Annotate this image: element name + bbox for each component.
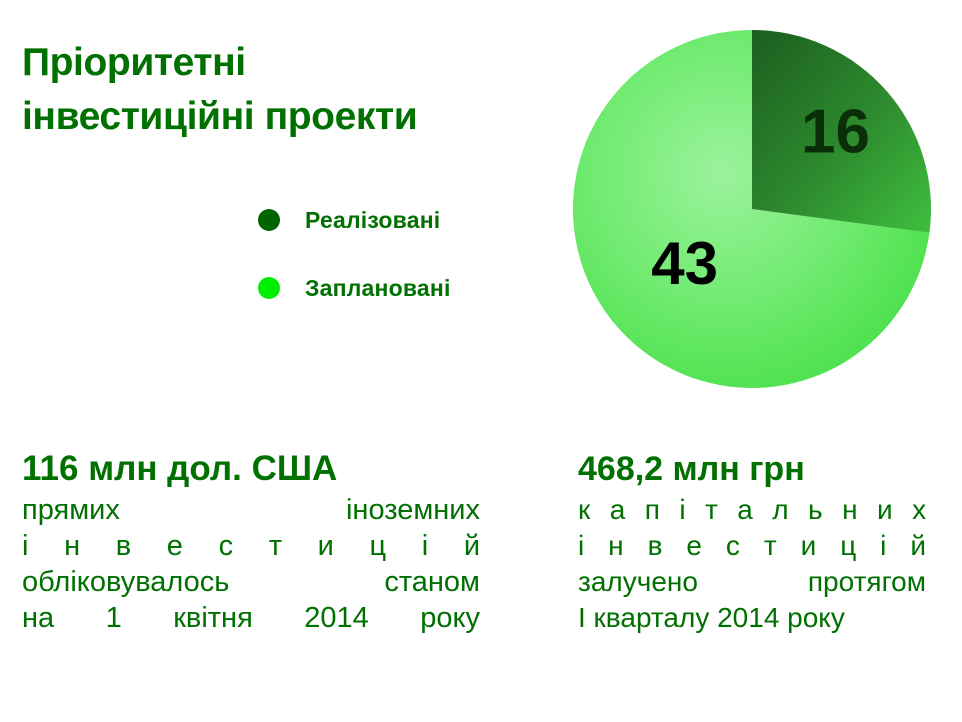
fact-headline: 468,2 млн грн [578,448,926,490]
fact-lines: к а п і т а л ь н и хі н в е с т и ц і й… [578,492,926,636]
fact-line: прямих іноземних [22,492,480,528]
fact-word: протягом [808,564,926,600]
fact-word: квітня [173,600,253,636]
fact-line: обліковувалось станом [22,564,480,600]
fact-lines: прямих іноземнихі н в е с т и ц і йоблік… [22,492,480,636]
legend-item-realized[interactable]: Реалізовані [258,200,538,240]
fact-line: і н в е с т и ц і й [22,528,480,564]
fact-word: п [645,492,660,528]
fact-word: обліковувалось [22,564,229,600]
legend-item-planned[interactable]: Заплановані [258,268,538,308]
fact-word: т [705,492,718,528]
fact-word: прямих [22,492,120,528]
fact-word: іноземних [346,492,480,528]
fact-word: н [842,492,857,528]
fact-word: е [686,528,702,564]
pie-chart[interactable]: 16 43 [573,30,931,388]
fact-word: залучено [578,564,698,600]
fact-headline: 116 млн дол. США [22,448,480,490]
fact-word: станом [384,564,480,600]
fact-word: л [772,492,788,528]
fact-word: в [116,528,131,564]
legend-item-label: Заплановані [305,275,451,302]
fact-word: с [219,528,234,564]
circle-bullet-icon [258,277,280,299]
fact-word: й [910,528,926,564]
fact-word: 1 [106,600,122,636]
fact-block-capital: 468,2 млн грн к а п і т а л ь н и хі н в… [578,448,926,636]
fact-word: 2014 [304,600,369,636]
fact-word: н [64,528,80,564]
pie-slice-value-planned: 43 [651,230,718,297]
fact-word: і [422,528,428,564]
page-title: Пріоритетні інвестиційні проекти [22,36,552,144]
fact-word: и [318,528,334,564]
fact-word: и [801,528,817,564]
fact-word: ц [840,528,856,564]
fact-word: т [764,528,777,564]
fact-word: т [269,528,282,564]
fact-word: ц [370,528,387,564]
fact-word: и [877,492,893,528]
fact-word: й [464,528,480,564]
fact-word: в [648,528,663,564]
fact-word: а [737,492,753,528]
fact-word: на [22,600,54,636]
fact-word: к [578,492,590,528]
fact-line: І кварталу 2014 року [578,600,926,636]
fact-word: і [679,492,685,528]
fact-word: с [726,528,740,564]
fact-word: е [167,528,183,564]
legend-item-label: Реалізовані [305,207,440,234]
fact-line: к а п і т а л ь н и х [578,492,926,528]
fact-word: х [912,492,926,528]
circle-bullet-icon [258,209,280,231]
slide-canvas: Пріоритетні інвестиційні проекти Реалізо… [0,0,962,722]
fact-word: і [22,528,28,564]
fact-word: а [610,492,626,528]
pie-slice-value-realized: 16 [801,97,870,166]
fact-word: року [420,600,480,636]
fact-word: н [608,528,623,564]
fact-line: і н в е с т и ц і й [578,528,926,564]
chart-legend: Реалізовані Заплановані [258,200,538,336]
pie-chart-svg: 16 43 [573,30,931,388]
fact-block-fdi: 116 млн дол. США прямих іноземнихі н в е… [22,448,480,636]
fact-word: ь [808,492,823,528]
fact-line: на 1 квітня 2014 року [22,600,480,636]
fact-word: і [578,528,584,564]
fact-line: залучено протягом [578,564,926,600]
fact-word: і [880,528,886,564]
